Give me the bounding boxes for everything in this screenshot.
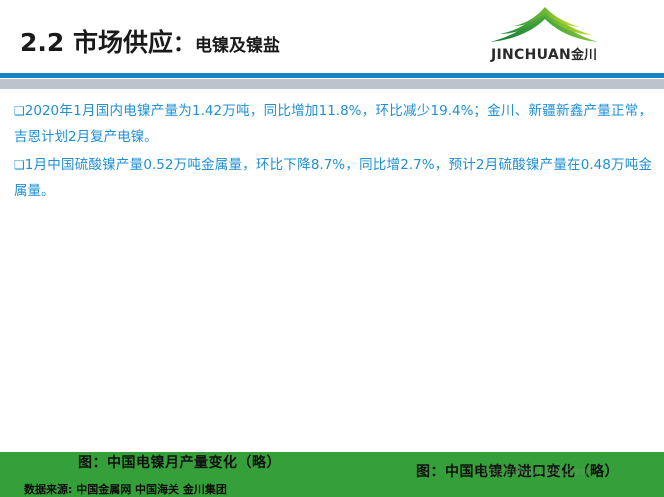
- bullet-square-icon: ❑: [14, 104, 25, 118]
- jinchuan-mountain-logo-icon: [488, 6, 600, 46]
- header-rule-blue: [0, 73, 664, 78]
- chart-caption-left: 图：中国电镍月产量变化（略）: [78, 452, 281, 472]
- page-title-colon: ：: [173, 32, 195, 57]
- bullet-paragraph-text: 1月中国硫酸镍产量0.52万吨金属量，环比下降8.7%，同比增2.7%，预计2月…: [14, 157, 652, 199]
- body-content: ❑2020年1月国内电镍产量为1.42万吨，同比增加11.8%，环比减少19.4…: [14, 98, 652, 206]
- brand-logo: JINCHUAN金川: [484, 6, 604, 66]
- bullet-paragraph-text: 2020年1月国内电镍产量为1.42万吨，同比增加11.8%，环比减少19.4%…: [14, 103, 652, 145]
- chart-placeholder-area: [0, 205, 664, 452]
- header-rule-gray: [0, 79, 664, 89]
- brand-logo-text: JINCHUAN金川: [484, 46, 604, 62]
- brand-logo-latin: JINCHUAN: [491, 47, 571, 63]
- page-title-main: 2.2 市场供应: [20, 28, 173, 57]
- page-title: 2.2 市场供应：电镍及镍盐: [20, 30, 280, 56]
- data-source-label: 数据来源: 中国金属网 中国海关 金川集团: [24, 481, 227, 497]
- slide-canvas: 2.2 市场供应：电镍及镍盐: [0, 0, 664, 497]
- site-watermark: http://www.j-imc.com: [483, 466, 588, 478]
- page-title-sub: 电镍及镍盐: [195, 36, 280, 56]
- slide-header: 2.2 市场供应：电镍及镍盐: [0, 0, 664, 73]
- brand-logo-chinese: 金川: [571, 48, 597, 63]
- bullet-square-icon: ❑: [14, 158, 25, 172]
- bullet-paragraph: ❑2020年1月国内电镍产量为1.42万吨，同比增加11.8%，环比减少19.4…: [14, 98, 652, 150]
- bullet-paragraph: ❑1月中国硫酸镍产量0.52万吨金属量，环比下降8.7%，同比增2.7%，预计2…: [14, 152, 652, 204]
